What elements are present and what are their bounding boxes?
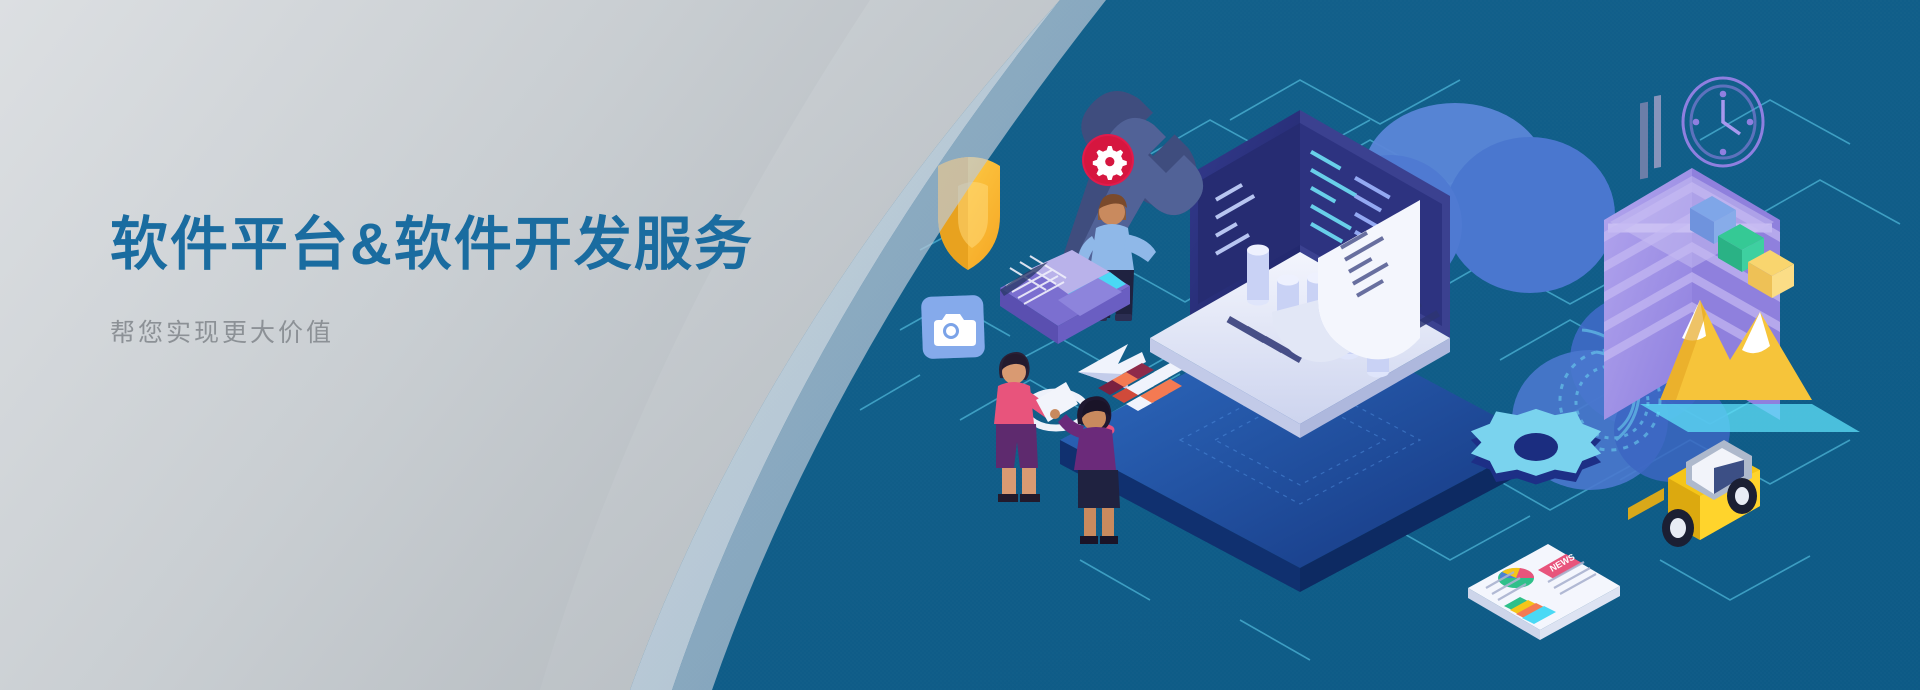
banner-text-block: 软件平台&软件开发服务 帮您实现更大价值: [110, 212, 870, 349]
page-title: 软件平台&软件开发服务: [110, 212, 870, 279]
clock-icon: [1683, 78, 1763, 166]
page-subtitle: 帮您实现更大价值: [110, 317, 870, 350]
gear-icon: [1093, 146, 1127, 180]
hero-banner: NEWS 软件平台&软件开发服务 帮您: [0, 0, 1920, 690]
gear-badge-icon: [1082, 134, 1134, 186]
